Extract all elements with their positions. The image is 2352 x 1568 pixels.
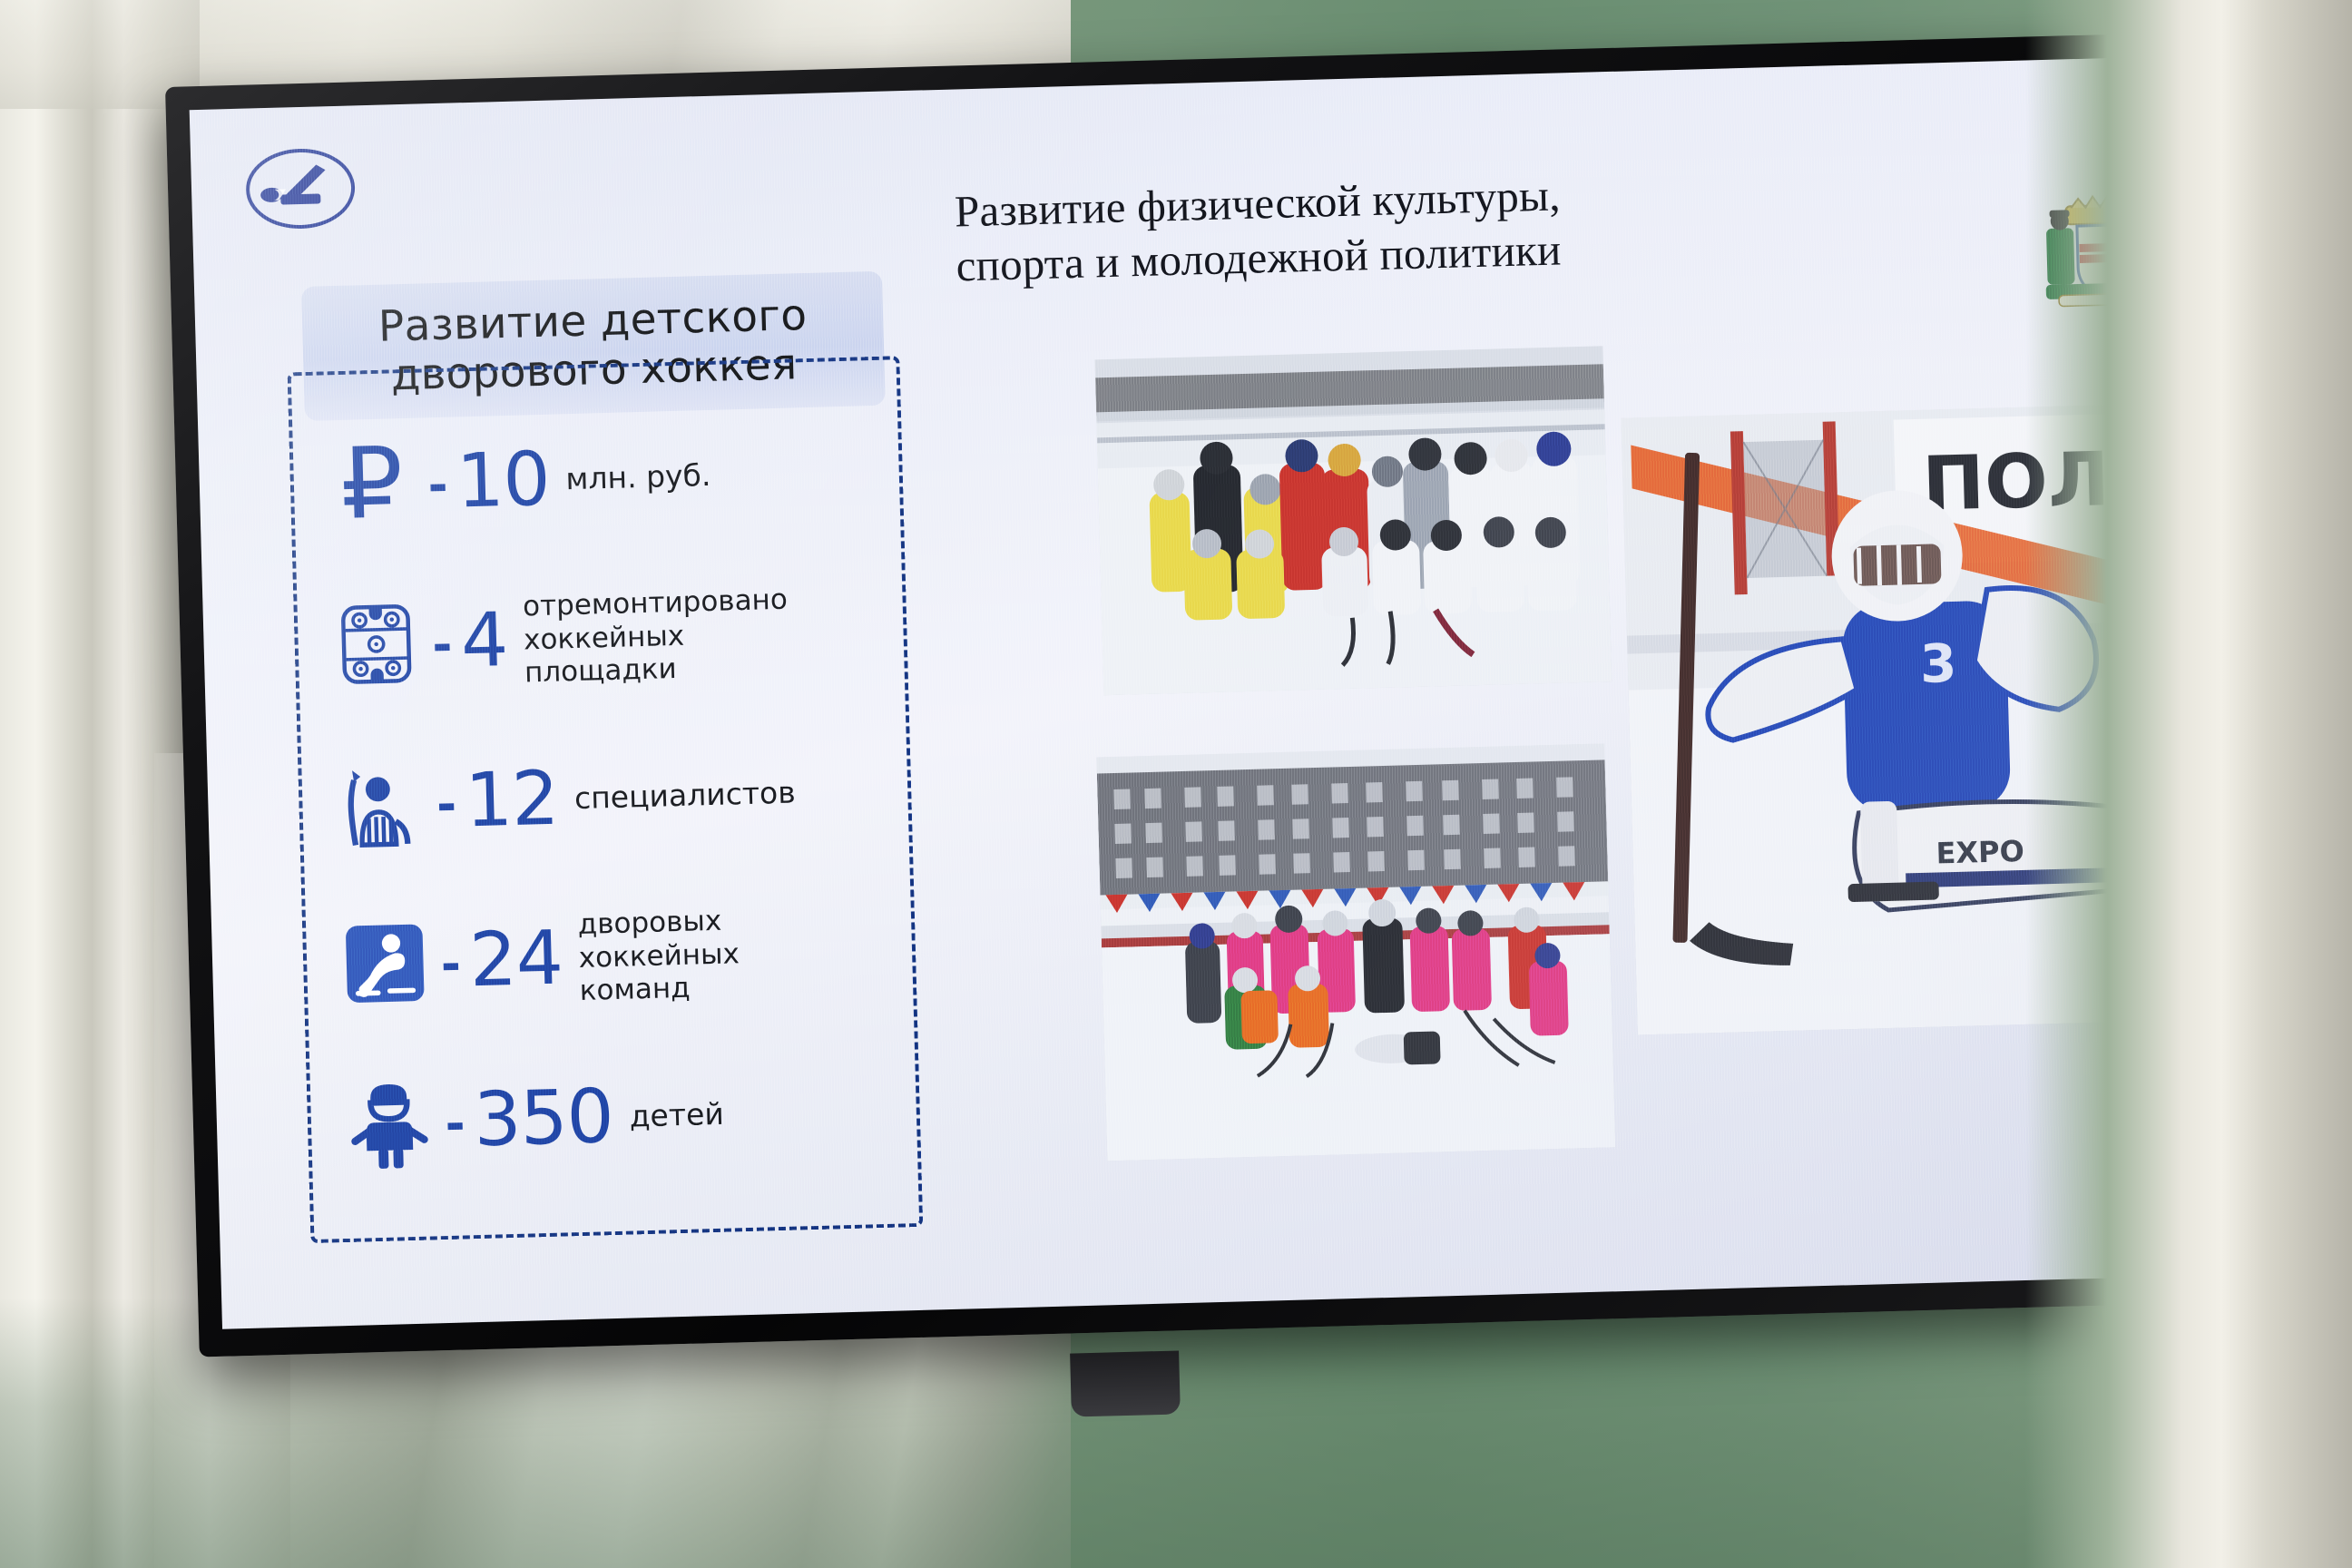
stat-label-specialists: специалистов	[574, 775, 797, 817]
tv-bezel: Развитие физической культуры, спорта и м…	[165, 31, 2295, 1357]
stat-row-specialists: - 12 специалистов	[304, 709, 944, 886]
stat-label-children: детей	[629, 1096, 724, 1134]
stat-dash: -	[432, 613, 453, 672]
stat-label-rinks-line-2: хоккейных площадки	[524, 619, 685, 689]
stat-value-funding: 10	[456, 445, 550, 518]
child-icon	[338, 1076, 442, 1170]
stat-row-children: - 350 детей	[313, 1028, 953, 1205]
pad-brand-text: EXPO	[1935, 834, 2024, 871]
stat-label-rinks-line-1: отремонтировано	[523, 583, 789, 623]
photo-team-award-ceremony	[1095, 346, 1612, 695]
wall-mounted-tv: Развитие физической культуры, спорта и м…	[165, 31, 2295, 1357]
board-text: ПОЛИП	[1921, 433, 2218, 527]
ruble-sign-icon: ₽	[320, 444, 424, 524]
slide-title: Развитие физической культуры, спорта и м…	[954, 157, 1973, 293]
stat-value-children: 350	[473, 1082, 614, 1156]
page-number: 12	[2131, 1185, 2168, 1229]
ice-rink-icon	[324, 600, 428, 688]
stat-dash: -	[440, 933, 461, 992]
stat-row-funding: ₽ - 10 млн. руб.	[296, 389, 936, 566]
right-pilaster	[2134, 0, 2316, 1568]
ice-skater-icon	[333, 920, 436, 1006]
photo-yard-teams-group	[1096, 743, 1615, 1161]
stat-label-teams-line-2: команд	[579, 972, 691, 1007]
stat-label-teams-line-1: дворовых хоккейных	[577, 905, 740, 975]
jersey-number: 3	[1919, 632, 1957, 695]
stat-value-teams: 24	[468, 924, 563, 997]
stat-dash: -	[445, 1092, 465, 1151]
tv-screen: Развитие физической культуры, спорта и м…	[190, 54, 2271, 1329]
room-background: Развитие физической культуры, спорта и м…	[0, 0, 2352, 1568]
stat-row-rinks: - 4 отремонтировано хоккейных площадки	[299, 549, 939, 726]
stat-label-teams: дворовых хоккейных команд	[577, 900, 879, 1008]
stat-value-specialists: 12	[465, 764, 559, 838]
stats-list: ₽ - 10 млн. руб.	[296, 389, 953, 1205]
hockey-stick-and-puck-logo	[238, 142, 364, 236]
omsk-coat-of-arms	[2038, 192, 2175, 312]
stat-label-rinks: отремонтировано хоккейных площадки	[523, 583, 825, 691]
photo-goalie: ПОЛИП	[1621, 402, 2218, 1034]
stat-dash: -	[427, 454, 448, 513]
stat-row-teams: - 24 дворовых хоккейных команд	[309, 868, 948, 1045]
presentation-slide: Развитие физической культуры, спорта и м…	[190, 54, 2271, 1329]
referee-icon	[328, 758, 433, 849]
stat-label-funding: млн. руб.	[565, 457, 711, 496]
stat-dash: -	[436, 773, 457, 832]
tv-mount-bracket	[1070, 1350, 1181, 1416]
stat-value-rinks: 4	[460, 605, 508, 677]
